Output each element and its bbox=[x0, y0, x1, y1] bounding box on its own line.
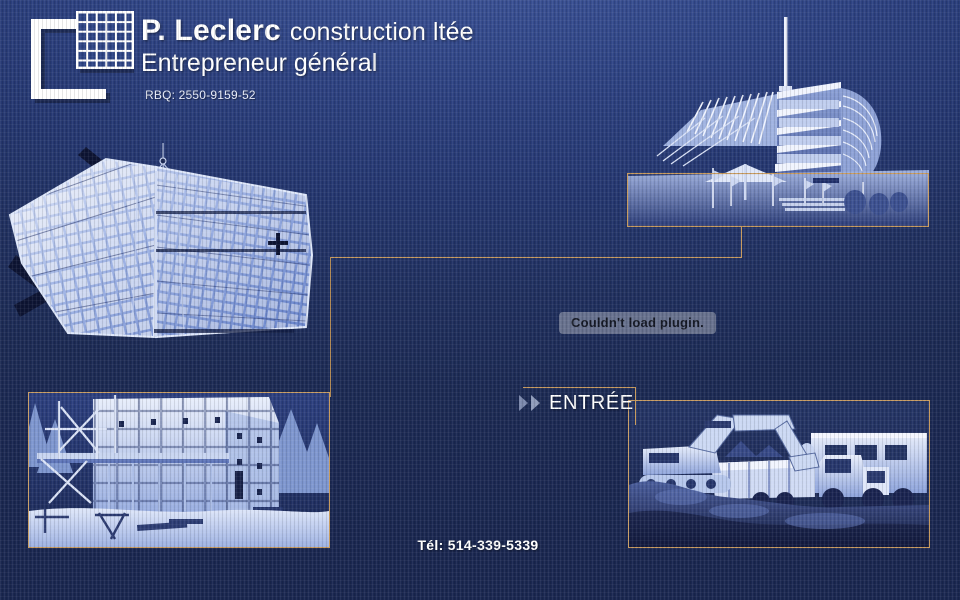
company-name-light: construction ltée bbox=[290, 18, 474, 46]
excavator-loading-photo bbox=[628, 400, 930, 548]
phone-number: Tél: 514-339-5339 bbox=[0, 537, 960, 553]
plugin-error-notice[interactable]: Couldn't load plugin. bbox=[559, 312, 716, 334]
casino-building-photo bbox=[627, 6, 929, 227]
entree-bracket-right bbox=[635, 387, 636, 425]
phone-number-text: Tél: 514-339-5339 bbox=[417, 537, 538, 553]
company-name-strong: P. Leclerc bbox=[141, 14, 281, 47]
page-root: P. Leclercconstruction ltée Entrepreneur… bbox=[0, 0, 960, 600]
connector-line-horizontal bbox=[330, 257, 742, 258]
double-play-arrow-icon bbox=[519, 395, 528, 411]
entree-link[interactable]: ENTRÉE bbox=[519, 391, 634, 415]
company-subtitle: Entrepreneur général bbox=[141, 50, 474, 76]
company-name: P. Leclercconstruction ltée bbox=[141, 16, 474, 46]
company-logo-icon bbox=[22, 7, 134, 104]
winter-construction-photo bbox=[28, 392, 330, 548]
rbq-licence-number: RBQ: 2550-9159-52 bbox=[145, 88, 256, 102]
connector-line-vertical-right bbox=[741, 226, 742, 258]
double-play-arrow-icon-second bbox=[531, 395, 540, 411]
site-header: P. Leclercconstruction ltée Entrepreneur… bbox=[0, 0, 620, 120]
entree-label: ENTRÉE bbox=[549, 392, 634, 415]
formwork-panel-photo bbox=[6, 137, 326, 339]
company-title-block: P. Leclercconstruction ltée Entrepreneur… bbox=[141, 16, 474, 76]
entree-bracket-top bbox=[523, 387, 636, 388]
connector-line-vertical-left bbox=[330, 257, 331, 397]
